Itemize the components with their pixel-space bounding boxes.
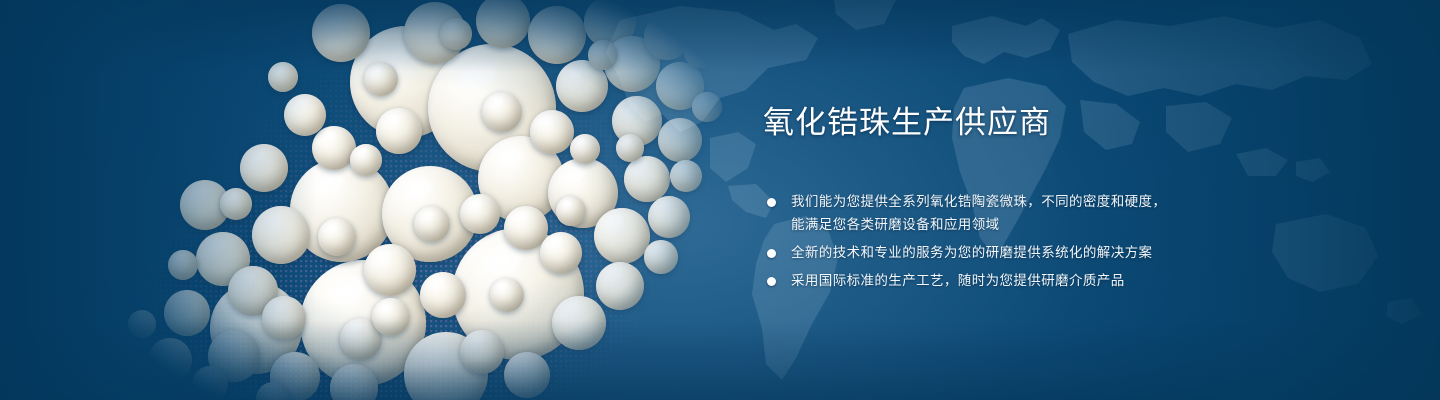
- bullet-dot-icon: [767, 198, 776, 207]
- list-item: 我们能为您提供全系列氧化锆陶瓷微珠，不同的密度和硬度， 能满足您各类研磨设备和应…: [763, 191, 1233, 237]
- feature-list: 我们能为您提供全系列氧化锆陶瓷微珠，不同的密度和硬度， 能满足您各类研磨设备和应…: [763, 191, 1233, 293]
- list-item: 全新的技术和专业的服务为您的研磨提供系统化的解决方案: [763, 242, 1233, 265]
- bullet-dot-icon: [767, 249, 776, 258]
- list-item-line: 采用国际标准的生产工艺，随时为您提供研磨介质产品: [791, 270, 1233, 293]
- list-item: 采用国际标准的生产工艺，随时为您提供研磨介质产品: [763, 270, 1233, 293]
- page-title: 氧化锆珠生产供应商: [763, 104, 1233, 143]
- list-item-line: 能满足您各类研磨设备和应用领域: [791, 214, 1233, 237]
- list-item-line: 全新的技术和专业的服务为您的研磨提供系统化的解决方案: [791, 242, 1233, 265]
- hero-banner: 氧化锆珠生产供应商 我们能为您提供全系列氧化锆陶瓷微珠，不同的密度和硬度， 能满…: [0, 0, 1440, 400]
- list-item-line: 我们能为您提供全系列氧化锆陶瓷微珠，不同的密度和硬度，: [791, 191, 1233, 214]
- banner-copy: 氧化锆珠生产供应商 我们能为您提供全系列氧化锆陶瓷微珠，不同的密度和硬度， 能满…: [763, 104, 1233, 293]
- bullet-dot-icon: [767, 277, 776, 286]
